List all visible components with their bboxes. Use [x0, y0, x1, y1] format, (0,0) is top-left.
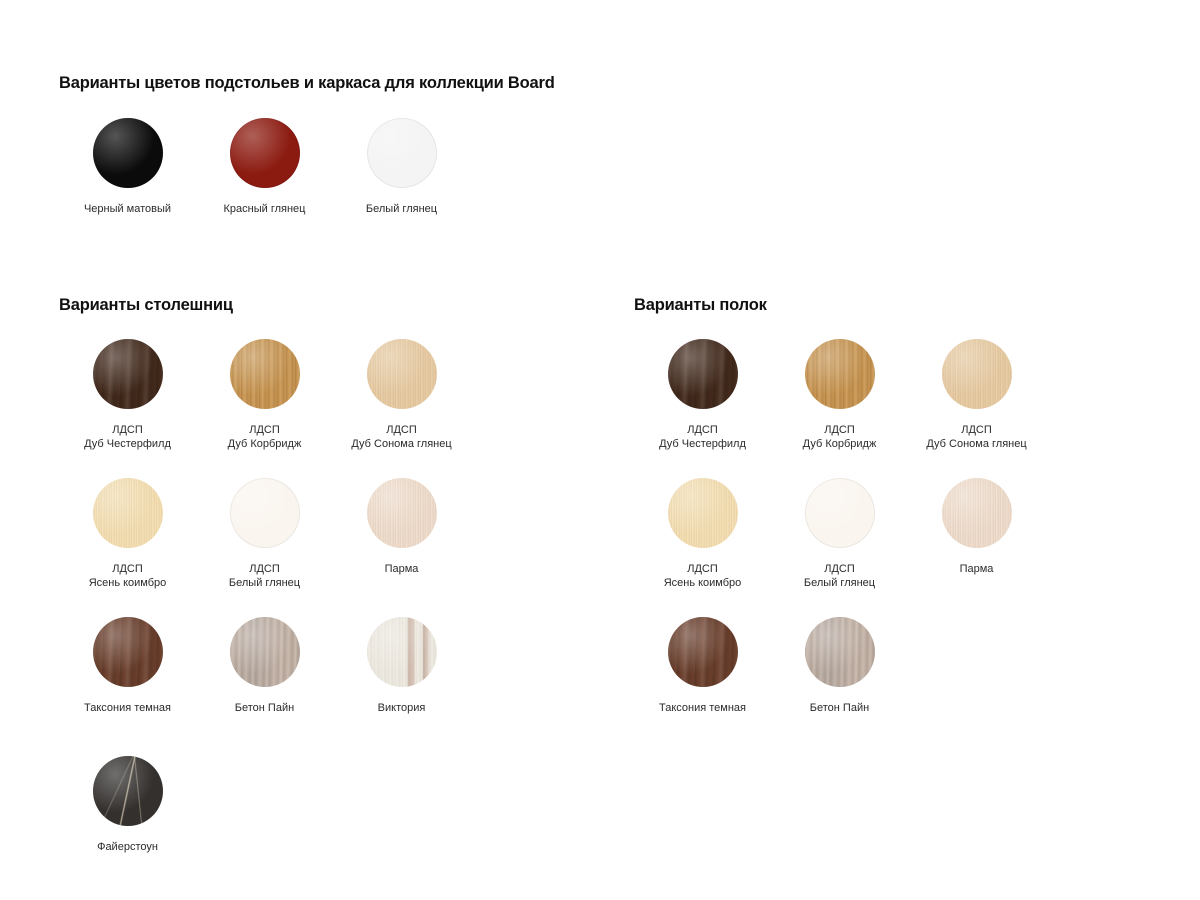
swatch-name: Ясень коимбро [664, 576, 742, 590]
swatch-name: Дуб Сонома глянец [926, 437, 1026, 451]
swatch-color-disc[interactable] [805, 617, 875, 687]
swatch-label: ЛДСПЯсень коимбро [89, 562, 167, 590]
swatch-name: Белый глянец [804, 576, 875, 590]
swatch-label: Виктория [378, 701, 426, 715]
swatch-label: ЛДСПЯсень коимбро [664, 562, 742, 590]
swatch-label: ЛДСПДуб Сонома глянец [926, 423, 1026, 451]
swatch-material-type: ЛДСП [84, 423, 171, 437]
swatch-material-type: ЛДСП [229, 562, 300, 576]
swatch-name: Бетон Пайн [810, 701, 869, 715]
swatch-color-disc[interactable] [93, 118, 163, 188]
swatch-label: Таксония темная [659, 701, 746, 715]
swatch-color-disc[interactable] [668, 339, 738, 409]
swatch-label: ЛДСПБелый глянец [804, 562, 875, 590]
swatch-name: Красный глянец [224, 202, 306, 216]
swatch-label: Парма [960, 562, 994, 576]
swatch-color-disc[interactable] [93, 617, 163, 687]
swatch-label: ЛДСПДуб Корбридж [803, 423, 877, 451]
swatch-name: Белый глянец [229, 576, 300, 590]
swatch-name: Виктория [378, 701, 426, 715]
swatch-name: Дуб Корбридж [803, 437, 877, 451]
swatch-color-disc[interactable] [230, 478, 300, 548]
swatch-option[interactable]: ЛДСПДуб Сонома глянец [333, 339, 470, 478]
swatch-name: Дуб Сонома глянец [351, 437, 451, 451]
swatch-color-disc[interactable] [367, 118, 437, 188]
swatch-option[interactable]: ЛДСПЯсень коимбро [59, 478, 196, 617]
tabletops-section-title: Варианты столешниц [59, 296, 233, 315]
swatch-option[interactable]: ЛДСПДуб Корбридж [196, 339, 333, 478]
swatch-option[interactable]: ЛДСПБелый глянец [771, 478, 908, 617]
swatch-color-disc[interactable] [805, 339, 875, 409]
frame-color-grid: Черный матовыйКрасный глянецБелый глянец [59, 118, 470, 257]
swatch-color-disc[interactable] [230, 617, 300, 687]
swatch-material-type: ЛДСП [228, 423, 302, 437]
swatch-name: Черный матовый [84, 202, 171, 216]
swatch-option[interactable]: ЛДСПБелый глянец [196, 478, 333, 617]
swatch-label: ЛДСПДуб Сонома глянец [351, 423, 451, 451]
swatch-name: Дуб Честерфилд [659, 437, 746, 451]
swatch-name: Дуб Честерфилд [84, 437, 171, 451]
swatch-color-disc[interactable] [230, 339, 300, 409]
swatch-label: ЛДСПБелый глянец [229, 562, 300, 590]
swatch-option[interactable]: ЛДСПЯсень коимбро [634, 478, 771, 617]
swatch-material-type: ЛДСП [659, 423, 746, 437]
shelf-swatch-grid: ЛДСПДуб ЧестерфилдЛДСПДуб КорбриджЛДСПДу… [634, 339, 1045, 756]
swatch-option[interactable]: Виктория [333, 617, 470, 756]
swatch-label: Бетон Пайн [810, 701, 869, 715]
swatch-color-disc[interactable] [367, 339, 437, 409]
swatch-label: Файерстоун [97, 840, 158, 854]
swatch-name: Белый глянец [366, 202, 437, 216]
swatch-option[interactable]: Белый глянец [333, 118, 470, 257]
tabletop-swatch-grid: ЛДСПДуб ЧестерфилдЛДСПДуб КорбриджЛДСПДу… [59, 339, 470, 895]
swatch-material-type: ЛДСП [804, 562, 875, 576]
swatch-option[interactable]: Парма [333, 478, 470, 617]
swatch-name: Таксония темная [659, 701, 746, 715]
swatch-material-type: ЛДСП [664, 562, 742, 576]
swatch-label: Красный глянец [224, 202, 306, 216]
swatch-color-disc[interactable] [230, 118, 300, 188]
swatch-label: ЛДСПДуб Корбридж [228, 423, 302, 451]
swatch-color-disc[interactable] [668, 478, 738, 548]
swatch-color-disc[interactable] [668, 617, 738, 687]
swatch-color-disc[interactable] [805, 478, 875, 548]
swatch-color-disc[interactable] [367, 478, 437, 548]
swatch-label: Белый глянец [366, 202, 437, 216]
swatch-color-disc[interactable] [93, 756, 163, 826]
swatch-color-disc[interactable] [942, 339, 1012, 409]
swatch-option[interactable]: Бетон Пайн [771, 617, 908, 756]
swatch-option[interactable]: ЛДСПДуб Честерфилд [634, 339, 771, 478]
swatch-material-type: ЛДСП [803, 423, 877, 437]
swatch-color-disc[interactable] [93, 478, 163, 548]
swatch-label: Черный матовый [84, 202, 171, 216]
swatch-name: Парма [960, 562, 994, 576]
swatch-option[interactable]: Таксония темная [59, 617, 196, 756]
swatch-color-disc[interactable] [942, 478, 1012, 548]
swatch-name: Файерстоун [97, 840, 158, 854]
swatch-label: Парма [385, 562, 419, 576]
swatch-label: ЛДСПДуб Честерфилд [659, 423, 746, 451]
swatch-color-disc[interactable] [93, 339, 163, 409]
swatch-name: Таксония темная [84, 701, 171, 715]
swatch-option[interactable]: Таксония темная [634, 617, 771, 756]
swatch-name: Ясень коимбро [89, 576, 167, 590]
swatch-name: Дуб Корбридж [228, 437, 302, 451]
swatch-option[interactable]: ЛДСПДуб Честерфилд [59, 339, 196, 478]
swatch-option[interactable]: Черный матовый [59, 118, 196, 257]
swatch-name: Парма [385, 562, 419, 576]
swatch-material-type: ЛДСП [89, 562, 167, 576]
swatch-option[interactable]: Файерстоун [59, 756, 196, 895]
swatch-color-disc[interactable] [367, 617, 437, 687]
swatch-option[interactable]: ЛДСПДуб Корбридж [771, 339, 908, 478]
shelves-section-title: Варианты полок [634, 296, 767, 315]
swatch-label: Таксония темная [84, 701, 171, 715]
swatch-label: ЛДСПДуб Честерфилд [84, 423, 171, 451]
swatch-material-type: ЛДСП [926, 423, 1026, 437]
swatch-option[interactable]: ЛДСПДуб Сонома глянец [908, 339, 1045, 478]
swatch-option[interactable]: Красный глянец [196, 118, 333, 257]
swatch-name: Бетон Пайн [235, 701, 294, 715]
page-title: Варианты цветов подстольев и каркаса для… [59, 74, 555, 93]
color-options-page: Варианты цветов подстольев и каркаса для… [0, 0, 1200, 900]
swatch-material-type: ЛДСП [351, 423, 451, 437]
swatch-option[interactable]: Парма [908, 478, 1045, 617]
swatch-option[interactable]: Бетон Пайн [196, 617, 333, 756]
swatch-label: Бетон Пайн [235, 701, 294, 715]
